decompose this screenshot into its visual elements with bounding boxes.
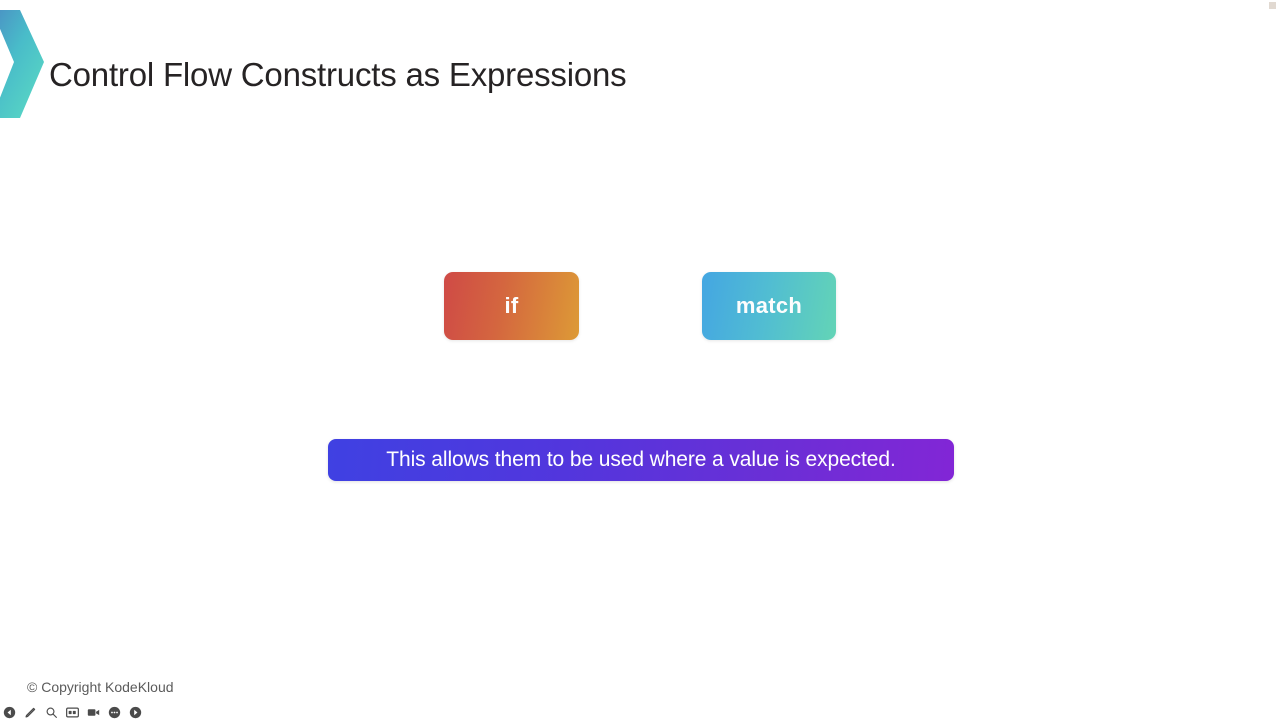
forward-arrow-icon[interactable] <box>129 706 142 719</box>
player-toolbar <box>3 705 142 720</box>
corner-marker <box>1269 2 1276 9</box>
page-title: Control Flow Constructs as Expressions <box>49 52 626 98</box>
copyright-notice: © Copyright KodeKloud <box>27 679 174 695</box>
more-options-icon[interactable] <box>108 706 121 719</box>
chip-if-label: if <box>504 293 518 319</box>
chip-if: if <box>444 272 579 340</box>
closed-caption-icon[interactable] <box>66 706 79 719</box>
slide-canvas: Control Flow Constructs as Expressions i… <box>0 0 1280 720</box>
pen-icon[interactable] <box>24 706 37 719</box>
chevron-right-logo-icon <box>0 8 44 120</box>
conclusion-banner: This allows them to be used where a valu… <box>328 439 954 481</box>
chip-match: match <box>702 272 836 340</box>
back-arrow-icon[interactable] <box>3 706 16 719</box>
conclusion-banner-text: This allows them to be used where a valu… <box>386 448 895 472</box>
chip-match-label: match <box>736 293 802 319</box>
keyword-chip-row: if match <box>444 272 836 340</box>
search-icon[interactable] <box>45 706 58 719</box>
video-camera-icon[interactable] <box>87 706 100 719</box>
